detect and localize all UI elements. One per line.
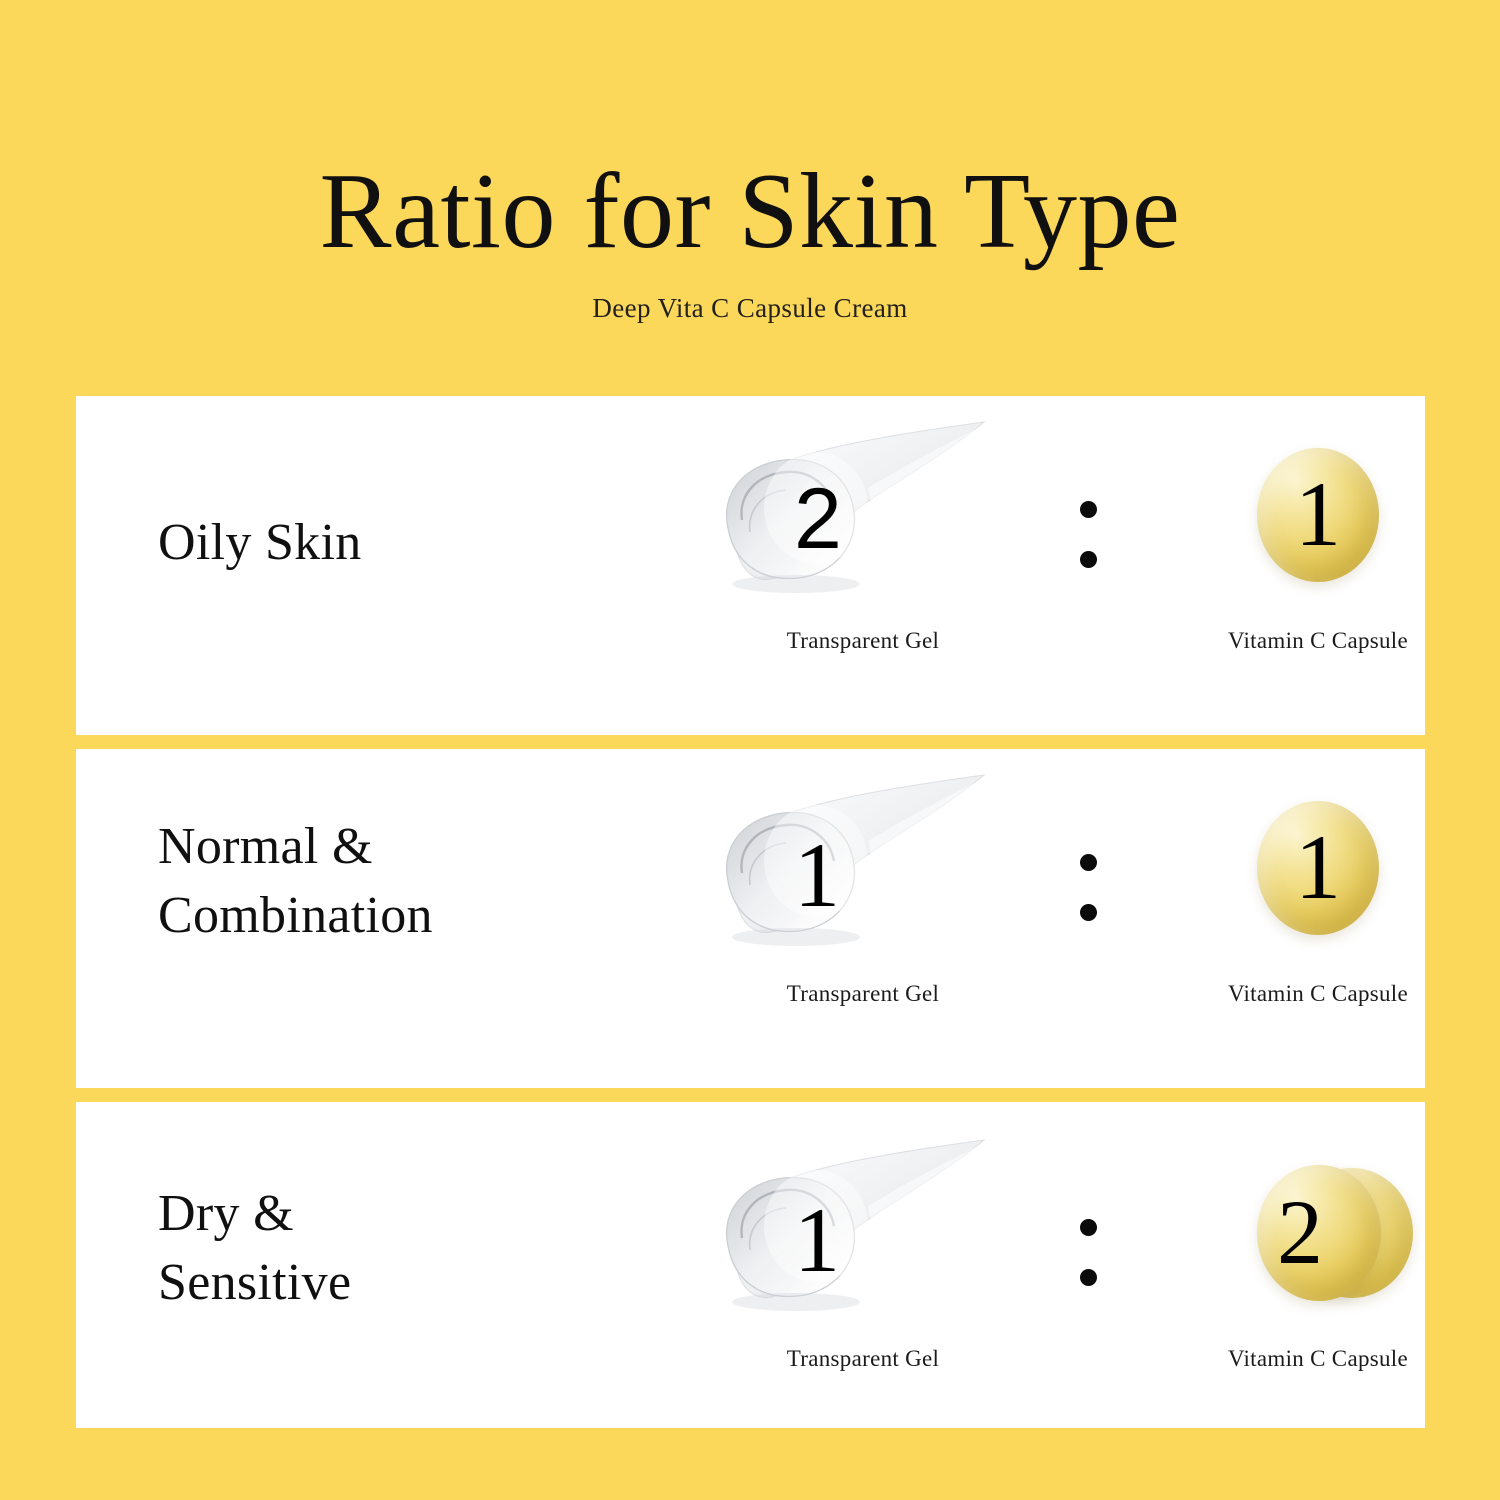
- capsule-visual: 1: [1153, 777, 1483, 959]
- ratio-zone: 2 Transparent Gel 1 Vitamin C Capsule: [676, 396, 1425, 735]
- capsule-label: Vitamin C Capsule: [1153, 628, 1483, 654]
- ratio-separator-icon: [1080, 1219, 1098, 1286]
- page-title: Ratio for Skin Type: [0, 155, 1500, 268]
- capsule-count: 1: [1295, 821, 1341, 913]
- transparent-gel-swatch-icon: [698, 416, 1028, 612]
- gel-visual: 1: [698, 777, 1028, 959]
- capsule-visual: 2: [1153, 1142, 1483, 1324]
- capsule-visual: 1: [1153, 424, 1483, 606]
- gel-visual: 2: [698, 424, 1028, 606]
- gel-label: Transparent Gel: [698, 1346, 1028, 1372]
- ratio-zone: 1 Transparent Gel 2 Vitamin C Capsule: [676, 1102, 1425, 1428]
- gel-label: Transparent Gel: [698, 628, 1028, 654]
- gel-count: 1: [794, 829, 840, 921]
- colon-dot-top: [1080, 1219, 1097, 1236]
- capsule-label: Vitamin C Capsule: [1153, 1346, 1483, 1372]
- gel-item: 1 Transparent Gel: [698, 777, 1028, 1007]
- ratio-separator-icon: [1080, 501, 1098, 568]
- colon-dot-bottom: [1080, 1269, 1097, 1286]
- colon-dot-bottom: [1080, 551, 1097, 568]
- ratio-zone: 1 Transparent Gel 1 Vitamin C Capsule: [676, 749, 1425, 1088]
- ratio-separator-icon: [1080, 854, 1098, 921]
- ratio-card-dry-sensitive: Dry & Sensitive: [76, 1102, 1425, 1428]
- skin-type-label: Oily Skin: [158, 509, 362, 578]
- skin-type-label: Normal & Combination: [158, 813, 433, 950]
- gel-label: Transparent Gel: [698, 981, 1028, 1007]
- gel-visual: 1: [698, 1142, 1028, 1324]
- capsule-count: 1: [1295, 468, 1341, 560]
- capsule-item: 1 Vitamin C Capsule: [1153, 424, 1483, 654]
- gel-count: 1: [794, 1194, 840, 1286]
- colon-dot-top: [1080, 501, 1097, 518]
- capsule-count: 2: [1277, 1186, 1323, 1278]
- capsule-item: 2 Vitamin C Capsule: [1153, 1142, 1483, 1372]
- skin-type-label: Dry & Sensitive: [158, 1180, 351, 1317]
- colon-dot-top: [1080, 854, 1097, 871]
- ratio-card-normal-combination: Normal & Combination: [76, 749, 1425, 1088]
- page-header: Ratio for Skin Type Deep Vita C Capsule …: [0, 0, 1500, 396]
- transparent-gel-swatch-icon: [698, 769, 1028, 965]
- gel-count: 2: [794, 476, 842, 562]
- transparent-gel-swatch-icon: [698, 1134, 1028, 1330]
- ratio-card-oily-skin: Oily Skin: [76, 396, 1425, 735]
- capsule-item: 1 Vitamin C Capsule: [1153, 777, 1483, 1007]
- gel-item: 2 Transparent Gel: [698, 424, 1028, 654]
- page-subtitle: Deep Vita C Capsule Cream: [0, 293, 1500, 324]
- gel-item: 1 Transparent Gel: [698, 1142, 1028, 1372]
- capsule-label: Vitamin C Capsule: [1153, 981, 1483, 1007]
- colon-dot-bottom: [1080, 904, 1097, 921]
